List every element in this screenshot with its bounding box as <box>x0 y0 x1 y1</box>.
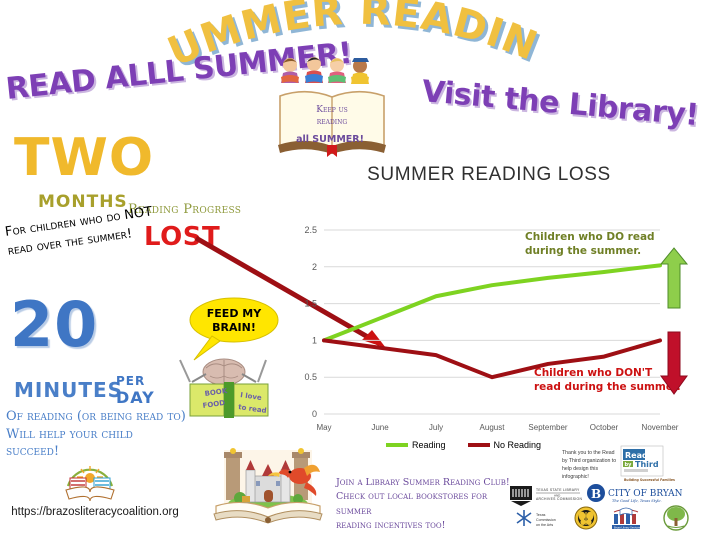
x-tick-label: July <box>429 423 443 432</box>
sponsor-logo-tslac: TEXAS STATE LIBRARY AND ARCHIVES COMMISS… <box>510 486 582 506</box>
green-up-arrow-icon <box>661 248 687 308</box>
infographic-canvas: SUMMER READING SUMMER READING READ ALLL … <box>0 0 712 534</box>
annotation-do-read: Children who DO read during the summer. <box>525 231 687 308</box>
city-of-bryan-tagline: The Good Life, Texas Style. <box>612 499 662 503</box>
succeed-line1: Of reading (or being read to) <box>6 408 186 426</box>
library-cta-line3: reading incentives too! <box>336 519 516 533</box>
succeed-detail: Of reading (or being read to) Will help … <box>6 408 186 461</box>
x-tick-label: September <box>528 423 567 432</box>
sponsor-logo-tree <box>664 506 688 530</box>
book-text-line3: all SUMMER! <box>296 134 364 145</box>
x-tick-label: November <box>642 423 679 432</box>
rbt-word-third: Third <box>635 460 659 469</box>
kids-reading-icon <box>281 57 369 84</box>
sponsor-logo-butterfly <box>575 507 597 529</box>
legend-swatch-no-reading <box>468 443 490 447</box>
series-line-reading <box>324 265 660 340</box>
summer-reading-loss-chart: SUMMER READING LOSS 00.511.522.5 MayJune… <box>300 164 704 464</box>
chart-x-axis-labels: MayJuneJulyAugustSeptemberOctoberNovembe… <box>316 423 678 432</box>
y-tick-label: 2 <box>312 262 317 272</box>
tslac-line3: ARCHIVES COMMISSION <box>536 497 582 501</box>
anno-green-line1: Children who DO read <box>525 231 655 243</box>
minutes-label: MINUTES <box>14 378 123 402</box>
sponsor-logos: TEXAS STATE LIBRARY AND ARCHIVES COMMISS… <box>508 482 712 534</box>
chart-legend: Reading No Reading <box>386 440 541 450</box>
bubble-line1: FEED MY <box>207 307 262 320</box>
legend-label-no-reading: No Reading <box>494 440 542 450</box>
brazos-url[interactable]: https://brazosliteracycoalition.org <box>2 506 188 518</box>
x-tick-label: October <box>590 423 619 432</box>
library-cta-text: Join a Library Summer Reading Club! Chec… <box>336 476 516 533</box>
sponsor-logo-library-services: Bryan Library Services <box>612 508 641 529</box>
bookmark-icon <box>327 145 337 157</box>
anno-red-line1: Children who DON'T <box>534 367 653 379</box>
bubble-line2: BRAIN! <box>212 321 256 334</box>
chart-y-axis-labels: 00.511.522.5 <box>304 225 317 419</box>
library-services-name: Bryan Library Services <box>614 525 641 529</box>
slogan-visit-the-library: Visit the Library! <box>420 74 699 133</box>
castle-icon <box>246 460 290 502</box>
feed-my-brain-graphic: FEED MY BRAIN! <box>172 296 288 418</box>
book-text-line2: reading <box>317 117 348 127</box>
arts-line3: on the Arts <box>536 523 553 527</box>
legend-item-reading: Reading <box>386 440 446 450</box>
succeed-line2: Will help your child succeed! <box>6 426 186 461</box>
y-tick-label: 0.5 <box>304 372 317 382</box>
bryan-b-initial: B <box>591 487 601 501</box>
sponsor-logo-texas-arts: Texas Commission on the Arts <box>517 510 556 527</box>
library-cta-line1: Join a Library Summer Reading Club! <box>336 476 516 490</box>
x-tick-label: June <box>371 423 389 432</box>
brazos-literacy-logo <box>62 462 118 504</box>
chart-plot: 00.511.522.5 MayJuneJulyAugustSeptemberO… <box>300 216 704 464</box>
legend-item-no-reading: No Reading <box>468 440 542 450</box>
arts-line2: Commission <box>536 518 556 522</box>
tslac-line1: TEXAS STATE LIBRARY <box>536 488 580 492</box>
open-book-graphic: Keep us reading all SUMMER! <box>274 52 390 160</box>
brain-icon <box>203 359 245 385</box>
arts-line1: Texas <box>536 513 546 517</box>
legend-label-reading: Reading <box>412 440 446 450</box>
anno-green-line2: during the summer. <box>525 245 641 257</box>
x-tick-label: August <box>480 423 506 432</box>
read-by-third-logo: Read by Third Building Successful Famili… <box>620 445 664 485</box>
x-tick-label: May <box>316 423 331 432</box>
castle-book-graphic <box>212 448 324 526</box>
anno-red-line2: read during the summer. <box>534 381 681 393</box>
chart-series <box>324 265 660 377</box>
day-label: DAY <box>116 388 155 407</box>
y-tick-label: 1.5 <box>304 299 317 309</box>
y-tick-label: 0 <box>312 409 317 419</box>
rbt-word-by: by <box>625 462 633 468</box>
per-label: PER <box>116 374 145 388</box>
rbt-word-read: Read <box>625 451 648 460</box>
y-tick-label: 2.5 <box>304 225 317 235</box>
city-of-bryan-name: CITY OF BRYAN <box>608 489 683 499</box>
thank-you-text: Thank you to the Read by Third organizat… <box>562 449 618 481</box>
library-cta-line2: Check out local bookstores for summer <box>336 490 516 519</box>
chart-title: SUMMER READING LOSS <box>324 164 654 186</box>
book-text-line1: Keep us <box>316 105 348 115</box>
twenty-number: 20 <box>10 294 98 356</box>
two-number: TWO <box>14 132 154 184</box>
sponsor-logo-city-of-bryan: B CITY OF BRYAN The Good Life, Texas Sty… <box>587 484 683 503</box>
legend-swatch-reading <box>386 443 408 447</box>
y-tick-label: 1 <box>312 335 317 345</box>
